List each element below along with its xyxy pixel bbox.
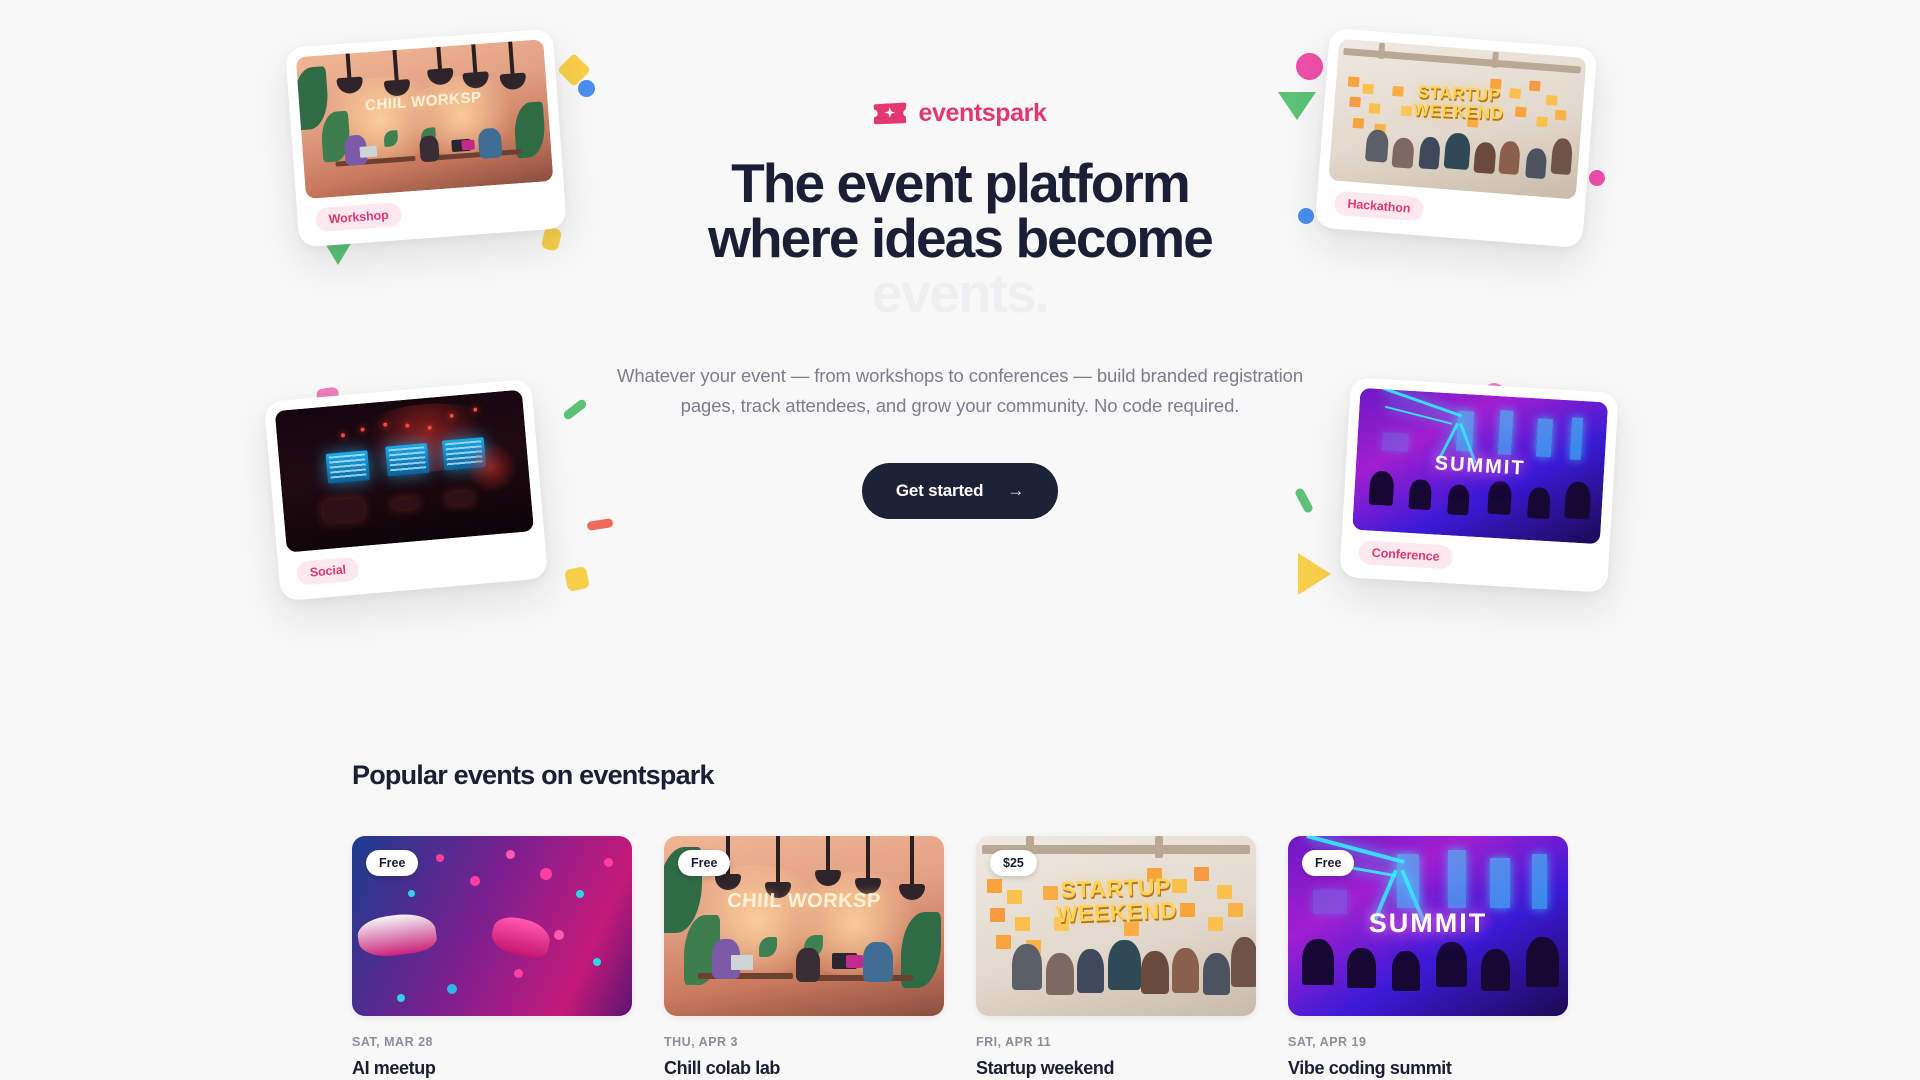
event-photo-text: STARTUP WEEKEND bbox=[976, 871, 1256, 929]
decor-square-yellow-bottomleft bbox=[564, 566, 590, 592]
scene-social bbox=[275, 390, 534, 553]
brand-logo[interactable]: eventspark bbox=[580, 96, 1340, 130]
headline-line-3: events. bbox=[580, 266, 1340, 321]
event-date: FRI, APR 11 bbox=[976, 1035, 1256, 1049]
event-card[interactable]: Free bbox=[352, 836, 632, 1079]
decor-triangle-yellow-bottomright bbox=[1298, 553, 1331, 595]
collage-card-social[interactable]: Social bbox=[264, 379, 548, 602]
scene-conference: SUMMIT bbox=[1352, 388, 1608, 544]
arrow-right-icon: → bbox=[1007, 482, 1024, 499]
event-card[interactable]: Free bbox=[1288, 836, 1568, 1079]
event-thumbnail: Free bbox=[1288, 836, 1568, 1016]
event-photo-text: CHIIL WORKSP bbox=[664, 890, 944, 913]
event-date: SAT, MAR 28 bbox=[352, 1035, 632, 1049]
ticket-icon bbox=[873, 101, 907, 125]
collage-badge-conference: Conference bbox=[1358, 540, 1453, 570]
decor-square-yellow-left bbox=[541, 226, 563, 251]
event-title: Vibe coding summit bbox=[1288, 1058, 1568, 1079]
event-thumbnail: $25 bbox=[976, 836, 1256, 1016]
event-date: THU, APR 3 bbox=[664, 1035, 944, 1049]
event-photo-text: SUMMIT bbox=[1288, 908, 1568, 939]
collage-card-hackathon[interactable]: STARTUP WEEKEND Hackathon bbox=[1315, 28, 1598, 248]
hackathon-line2: WEEKEND bbox=[1413, 100, 1504, 123]
events-grid: Free bbox=[352, 836, 1568, 1079]
headline-line-1: The event platform bbox=[731, 152, 1189, 214]
collage-photo-text-hackathon: STARTUP WEEKEND bbox=[1334, 80, 1583, 126]
collage-photo-social bbox=[275, 390, 534, 553]
decor-circle-pink-right bbox=[1296, 53, 1323, 80]
collage-badge-social: Social bbox=[296, 556, 360, 585]
event-price-badge: $25 bbox=[990, 850, 1037, 876]
event-card[interactable]: $25 bbox=[976, 836, 1256, 1079]
hero-subheading: Whatever your event — from workshops to … bbox=[580, 361, 1340, 421]
event-thumbnail: Free bbox=[352, 836, 632, 1016]
event-date: SAT, APR 19 bbox=[1288, 1035, 1568, 1049]
hackathon-line2: WEEKEND bbox=[1055, 897, 1177, 927]
headline-line-2: where ideas become bbox=[708, 207, 1212, 269]
scene-hackathon: STARTUP WEEKEND bbox=[1328, 39, 1586, 200]
collage-badge-workshop: Workshop bbox=[315, 202, 403, 232]
event-price-badge: Free bbox=[1302, 850, 1354, 876]
cta-container: Get started → bbox=[580, 463, 1340, 519]
landing-page: CHIIL WORKSP Workshop bbox=[0, 0, 1920, 1080]
get-started-button[interactable]: Get started → bbox=[862, 463, 1058, 519]
collage-card-conference[interactable]: SUMMIT Conference bbox=[1339, 377, 1618, 593]
collage-badge-hackathon: Hackathon bbox=[1334, 191, 1425, 222]
brand-name: eventspark bbox=[918, 101, 1046, 126]
section-title: Popular events on eventspark bbox=[352, 760, 1568, 791]
decor-circle-blue-left bbox=[578, 80, 595, 97]
event-title: Chill colab lab bbox=[664, 1058, 944, 1079]
page-title: The event platform where ideas become ev… bbox=[580, 156, 1340, 321]
event-card[interactable]: Free bbox=[664, 836, 944, 1079]
event-title: AI meetup bbox=[352, 1058, 632, 1079]
event-price-badge: Free bbox=[678, 850, 730, 876]
popular-events-section: Popular events on eventspark Free bbox=[0, 760, 1920, 1079]
scene-workshop: CHIIL WORKSP bbox=[296, 39, 554, 199]
get-started-label: Get started bbox=[896, 481, 984, 501]
collage-photo-workshop: CHIIL WORKSP bbox=[296, 39, 554, 199]
hero-content: eventspark The event platform where idea… bbox=[580, 96, 1340, 519]
decor-circle-pink-right-lower bbox=[1589, 170, 1605, 186]
collage-photo-hackathon: STARTUP WEEKEND bbox=[1328, 39, 1586, 200]
hero-section: CHIIL WORKSP Workshop bbox=[0, 0, 1920, 680]
event-thumbnail: Free bbox=[664, 836, 944, 1016]
collage-photo-conference: SUMMIT bbox=[1352, 388, 1608, 544]
collage-card-workshop[interactable]: CHIIL WORKSP Workshop bbox=[285, 28, 567, 247]
event-price-badge: Free bbox=[366, 850, 418, 876]
decor-dash-coral-bottomleft bbox=[586, 518, 613, 531]
event-title: Startup weekend bbox=[976, 1058, 1256, 1079]
